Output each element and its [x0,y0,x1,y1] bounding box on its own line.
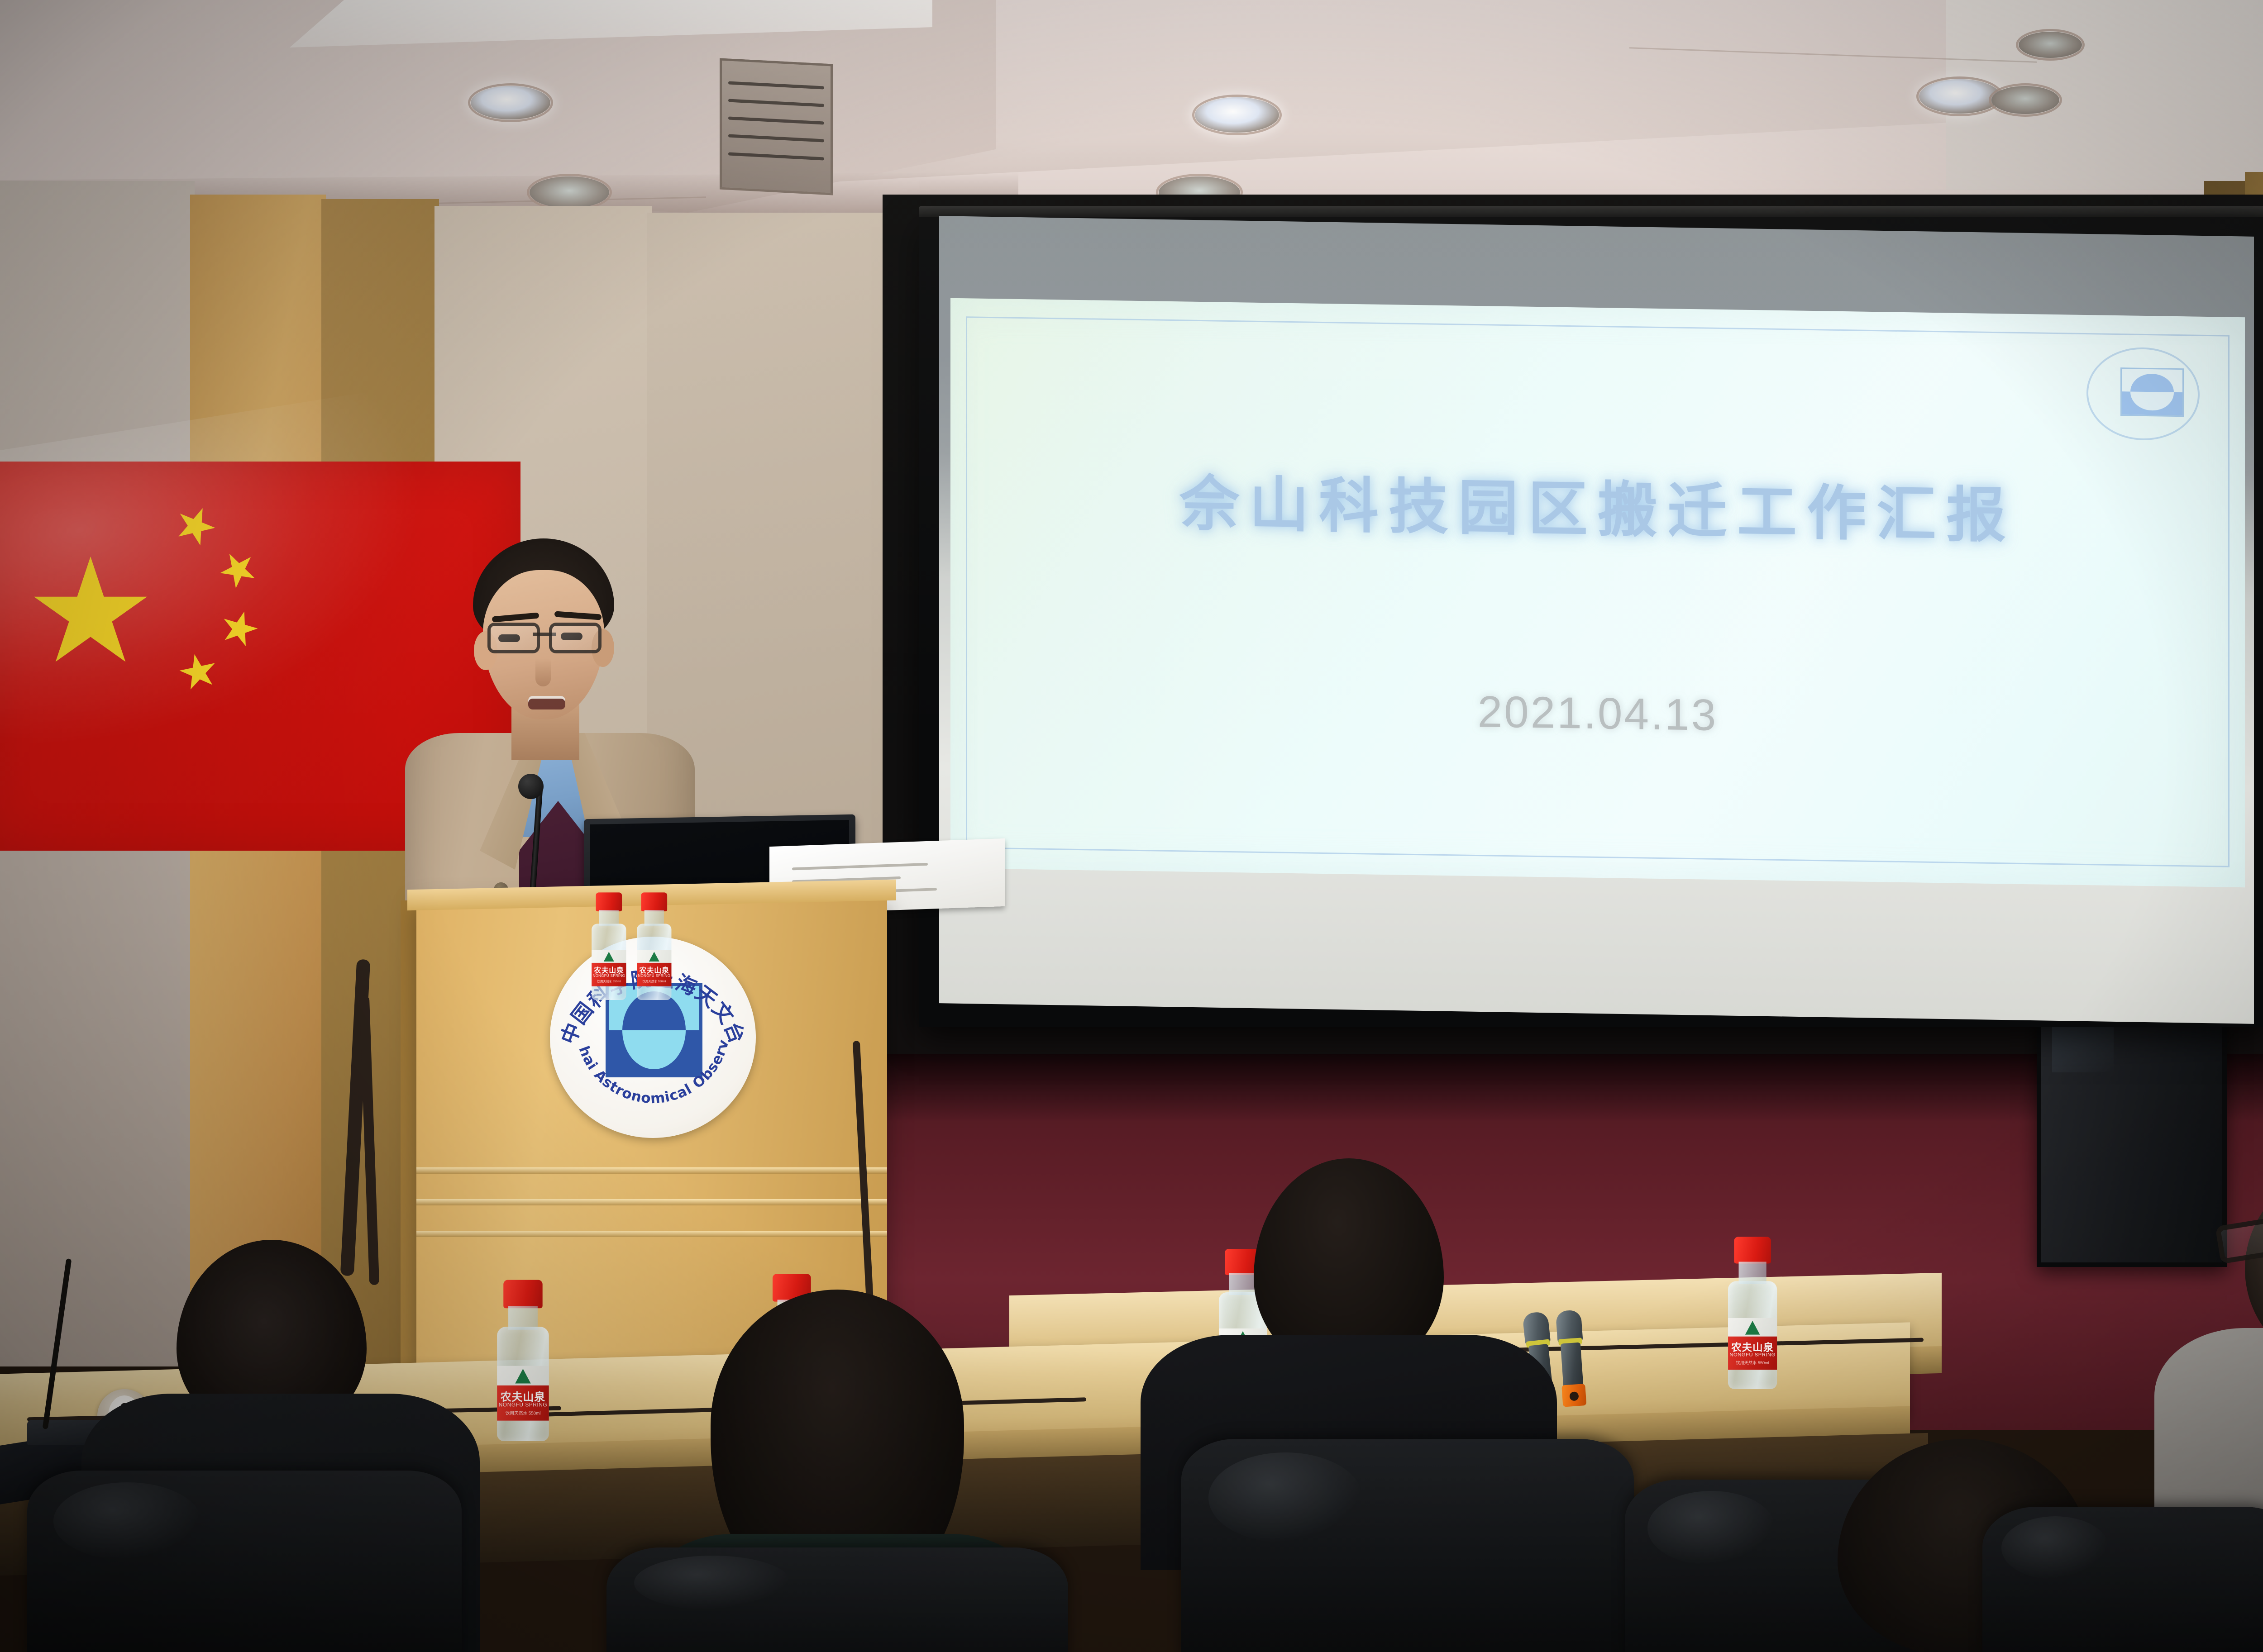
microphone-capsule-icon [518,774,544,799]
loudspeaker-cabinet [2037,986,2227,1267]
ceiling-downlight-icon [1919,79,2000,114]
bottle-brand-en: NONGFU SPRING [1727,1352,1778,1357]
hvac-vent-icon [720,58,833,195]
auditorium-chair[interactable] [1181,1439,1634,1652]
podium-groove [416,1167,887,1174]
presentation-slide: 佘山科技园区搬迁工作汇报 2021.04.13 [950,298,2245,887]
ceiling-downlight-icon [530,176,609,208]
water-bottle[interactable]: 农夫山泉 NONGFU SPRING 饮用天然水 550ml [591,892,627,1000]
water-bottle[interactable]: 农夫山泉 NONGFU SPRING 饮用天然水 550ml [496,1280,550,1441]
flag-gloss [0,386,455,763]
slide-watermark-logo-icon [2086,347,2200,441]
presenter-mouth [528,696,565,709]
podium-groove [416,1231,887,1237]
auditorium-chair[interactable] [1982,1507,2263,1652]
bottle-volume: 饮用天然水 550ml [1727,1360,1778,1366]
water-bottle[interactable]: 农夫山泉 NONGFU SPRING 饮用天然水 550ml [636,892,673,1000]
bottle-volume: 饮用天然水 550ml [636,979,673,983]
slide-border [966,316,2230,867]
auditorium-chair[interactable] [606,1547,1068,1652]
auditorium-chair[interactable] [27,1471,462,1652]
conference-hall-photo: 佘山科技园区搬迁工作汇报 2021.04.13 [0,0,2263,1652]
podium-groove [416,1199,887,1205]
bottle-volume: 饮用天然水 550ml [591,979,627,983]
presenter-glasses-icon [477,621,611,660]
ceiling-downlight-icon [1195,97,1279,133]
presenter-nose [535,658,551,686]
bottle-brand-en: NONGFU SPRING [591,974,627,978]
water-bottle[interactable]: 农夫山泉 NONGFU SPRING 饮用天然水 550ml [1727,1237,1778,1389]
bottle-volume: 饮用天然水 550ml [496,1410,550,1416]
ceiling-downlight-icon [1991,86,2059,114]
ceiling-downlight-icon [2019,32,2082,58]
ceiling-downlight-icon [471,86,550,119]
bottle-brand-en: NONGFU SPRING [496,1402,550,1408]
bottle-brand-en: NONGFU SPRING [636,974,673,978]
